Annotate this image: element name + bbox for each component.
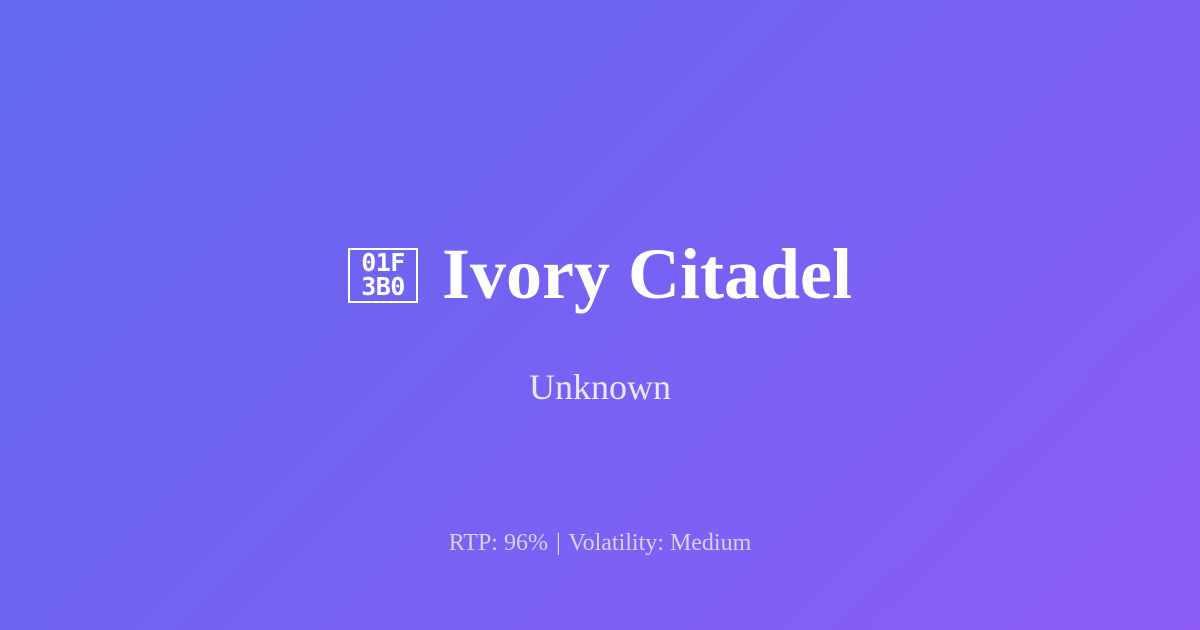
- game-title-row: 01F 3B0 Ivory Citadel: [0, 233, 1200, 315]
- game-og-card: 01F 3B0 Ivory Citadel Unknown RTP: 96% |…: [0, 0, 1200, 630]
- rtp-label: RTP:: [449, 530, 498, 556]
- slot-machine-emoji-icon: 01F 3B0: [348, 248, 418, 303]
- page-title: Ivory Citadel: [442, 238, 852, 310]
- game-stats: RTP: 96% | Volatility: Medium: [0, 528, 1200, 558]
- volatility-value: Medium: [670, 530, 751, 556]
- stats-separator: |: [554, 530, 563, 556]
- tofu-codepoint-bottom: 3B0: [361, 275, 405, 299]
- volatility-label: Volatility:: [568, 530, 664, 556]
- rtp-value: 96%: [504, 530, 548, 556]
- game-provider: Unknown: [0, 365, 1200, 409]
